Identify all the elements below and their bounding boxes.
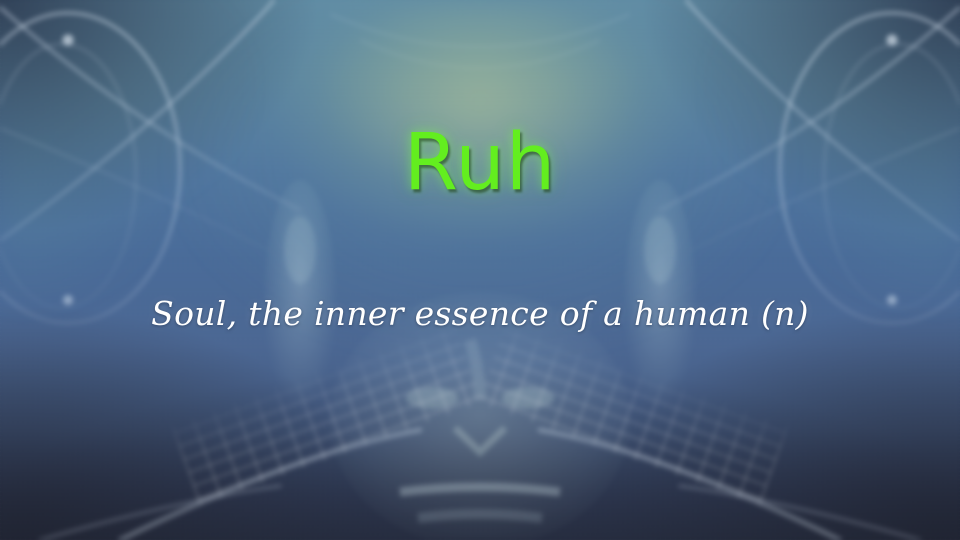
slide-subtitle: Soul, the inner essence of a human (n) <box>0 296 960 332</box>
slide-title: Ruh <box>0 124 960 202</box>
slide-text-stack: Ruh Soul, the inner essence of a human (… <box>0 0 960 540</box>
presentation-slide: Ruh Soul, the inner essence of a human (… <box>0 0 960 540</box>
